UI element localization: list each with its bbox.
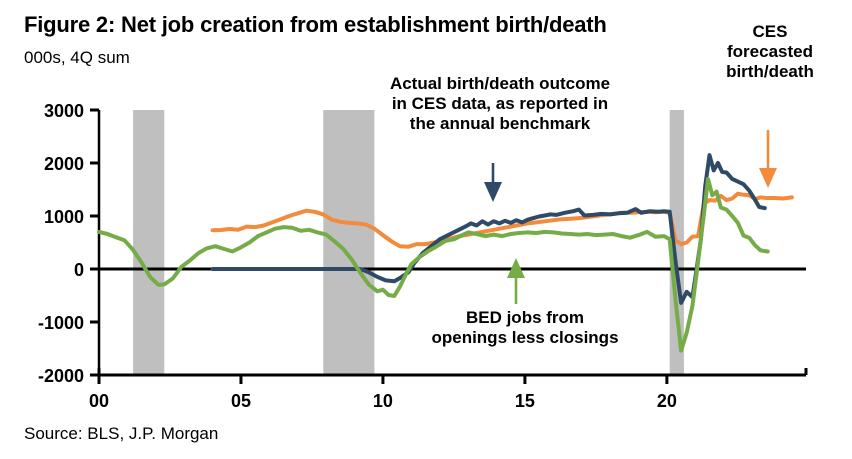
- annotation-bed-jobs: BED jobs from openings less closings: [375, 308, 675, 348]
- recession-band: [323, 110, 374, 375]
- orange-arrow: [759, 130, 777, 188]
- y-axis-tick-label: -1000: [38, 313, 84, 333]
- x-axis-tick-label: 05: [231, 391, 251, 411]
- y-axis-tick-label: 1000: [44, 207, 84, 227]
- y-axis-tick-label: 3000: [44, 101, 84, 121]
- source-note: Source: BLS, J.P. Morgan: [24, 424, 218, 444]
- y-axis-tick-label: 2000: [44, 154, 84, 174]
- y-axis-tick-label: -2000: [38, 366, 84, 386]
- annotation-ces-forecast: CES forecasted birth/death: [700, 22, 840, 82]
- x-axis-tick-label: 15: [515, 391, 535, 411]
- recession-band: [133, 110, 164, 375]
- x-axis-tick-label: 10: [373, 391, 393, 411]
- x-axis-tick-label: 20: [657, 391, 677, 411]
- navy-arrow: [484, 163, 502, 202]
- green-arrow: [507, 258, 525, 304]
- annotation-actual-birth-death: Actual birth/death outcome in CES data, …: [335, 74, 665, 134]
- figure-container: Figure 2: Net job creation from establis…: [0, 0, 852, 459]
- x-axis-tick-label: 00: [89, 391, 109, 411]
- y-axis-tick-label: 0: [74, 260, 84, 280]
